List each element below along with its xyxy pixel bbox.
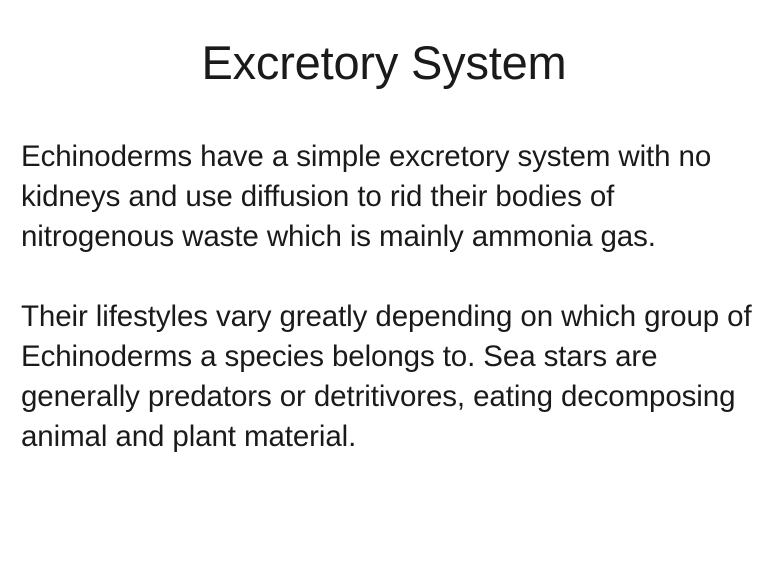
page-title: Excretory System [0, 34, 768, 92]
slide-canvas: Excretory System Echinoderms have a simp… [0, 0, 768, 561]
body-paragraph-1: Echinoderms have a simple excretory syst… [21, 137, 757, 257]
slide-body-text: Echinoderms have a simple excretory syst… [21, 137, 757, 457]
paragraph-spacer [21, 257, 757, 297]
body-paragraph-2: Their lifestyles vary greatly depending … [21, 297, 757, 457]
